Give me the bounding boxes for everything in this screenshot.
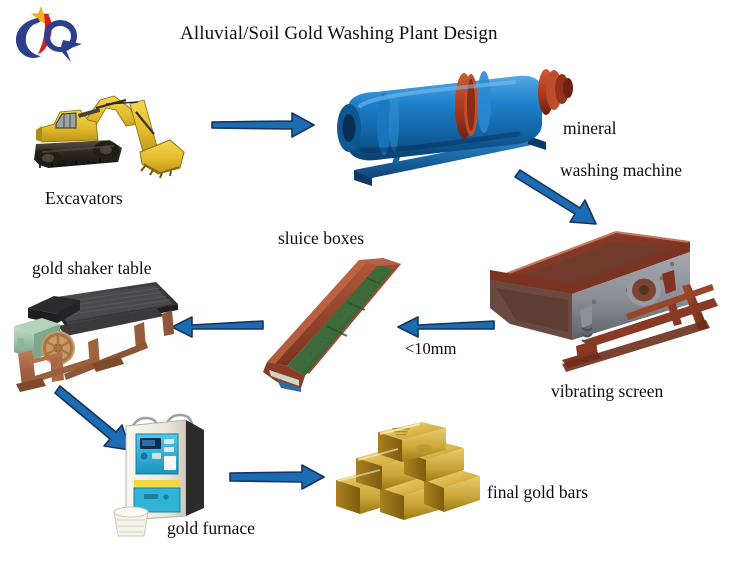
gold-shaker-table-image	[6, 268, 186, 388]
final-gold-bars-image	[330, 418, 480, 528]
gold-shaker-table-label: gold shaker table	[32, 258, 152, 278]
company-logo	[8, 4, 86, 70]
sluice-boxes-image	[255, 252, 415, 392]
page-title: Alluvial/Soil Gold Washing Plant Design	[180, 23, 498, 45]
vibrating-screen-image	[476, 228, 736, 378]
final-gold-bars-label: final gold bars	[487, 482, 588, 502]
gold-furnace-label: gold furnace	[167, 518, 255, 538]
excavator-label: Excavators	[45, 188, 123, 208]
mineral-washing-machine-label-line1: mineral	[563, 118, 616, 138]
arrow-furnace-to-gold-bars	[228, 462, 328, 492]
diagram-canvas: Alluvial/Soil Gold Washing Plant Design	[0, 0, 750, 563]
arrow-trommel-to-vibrating-screen	[518, 168, 610, 232]
excavator-image	[18, 78, 203, 188]
vibrating-screen-label: vibrating screen	[551, 381, 663, 401]
arrow-excavator-to-trommel	[210, 108, 320, 142]
sluice-boxes-label: sluice boxes	[278, 228, 364, 248]
